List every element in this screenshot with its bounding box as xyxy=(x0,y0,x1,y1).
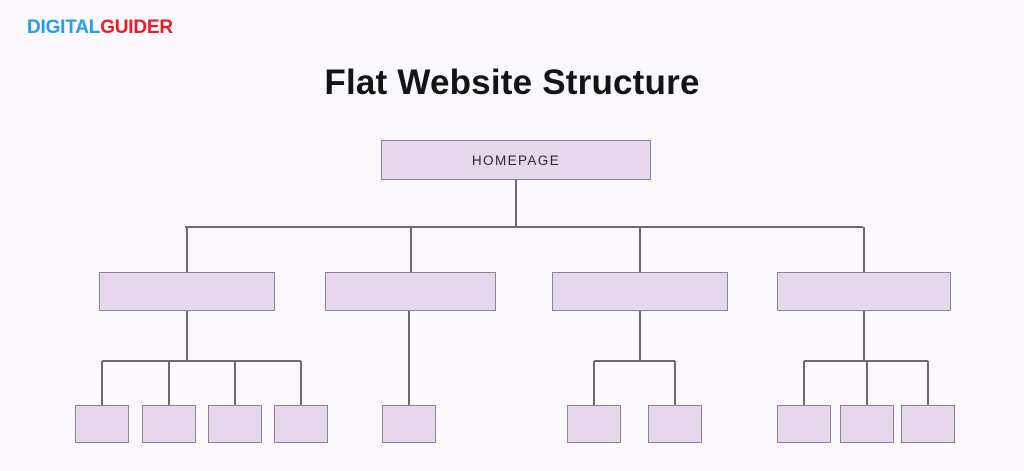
node-leaf-1[interactable] xyxy=(75,405,129,443)
node-leaf-7[interactable] xyxy=(648,405,702,443)
connector-bus-to-level2-2 xyxy=(410,227,412,272)
connector-level2-1-stem xyxy=(186,311,188,361)
connector-level2-4-stem xyxy=(863,311,865,361)
node-leaf-8[interactable] xyxy=(777,405,831,443)
connector-bus-to-level2-3 xyxy=(639,227,641,272)
node-leaf-6[interactable] xyxy=(567,405,621,443)
node-leaf-10[interactable] xyxy=(901,405,955,443)
connector-bus-to-leaf-2 xyxy=(168,361,170,405)
node-leaf-2[interactable] xyxy=(142,405,196,443)
node-level2-3[interactable] xyxy=(552,272,728,311)
connector-root-stem xyxy=(515,180,517,227)
node-level2-2[interactable] xyxy=(325,272,496,311)
connector-level2-3-bus xyxy=(594,360,675,362)
connector-bus-to-leaf-4 xyxy=(300,361,302,405)
connector-bus-to-leaf-10 xyxy=(927,361,929,405)
connector-bus-to-leaf-1 xyxy=(101,361,103,405)
connector-bus-to-leaf-9 xyxy=(866,361,868,405)
connector-level2-3-stem xyxy=(639,311,641,361)
connector-bus-to-leaf-6 xyxy=(593,361,595,405)
node-homepage[interactable]: HOMEPAGE xyxy=(381,140,651,180)
node-leaf-4[interactable] xyxy=(274,405,328,443)
connector-bus-to-leaf-7 xyxy=(674,361,676,405)
node-leaf-3[interactable] xyxy=(208,405,262,443)
connector-bus-to-leaf-3 xyxy=(234,361,236,405)
node-leaf-9[interactable] xyxy=(840,405,894,443)
node-leaf-5[interactable] xyxy=(382,405,436,443)
node-level2-4[interactable] xyxy=(777,272,951,311)
connector-bus-to-leaf-8 xyxy=(803,361,805,405)
flat-website-structure-diagram: HOMEPAGE xyxy=(0,0,1024,471)
connector-bus-to-level2-4 xyxy=(863,227,865,272)
node-level2-1[interactable] xyxy=(99,272,275,311)
connector-level2-2-to-leaf xyxy=(408,311,410,405)
node-homepage-label: HOMEPAGE xyxy=(472,153,560,168)
connector-bus-to-level2-1 xyxy=(186,227,188,272)
connector-main-bus xyxy=(185,226,863,228)
page-root: DIGITALGUIDER Flat Website Structure HOM… xyxy=(0,0,1024,471)
connector-level2-1-bus xyxy=(102,360,301,362)
